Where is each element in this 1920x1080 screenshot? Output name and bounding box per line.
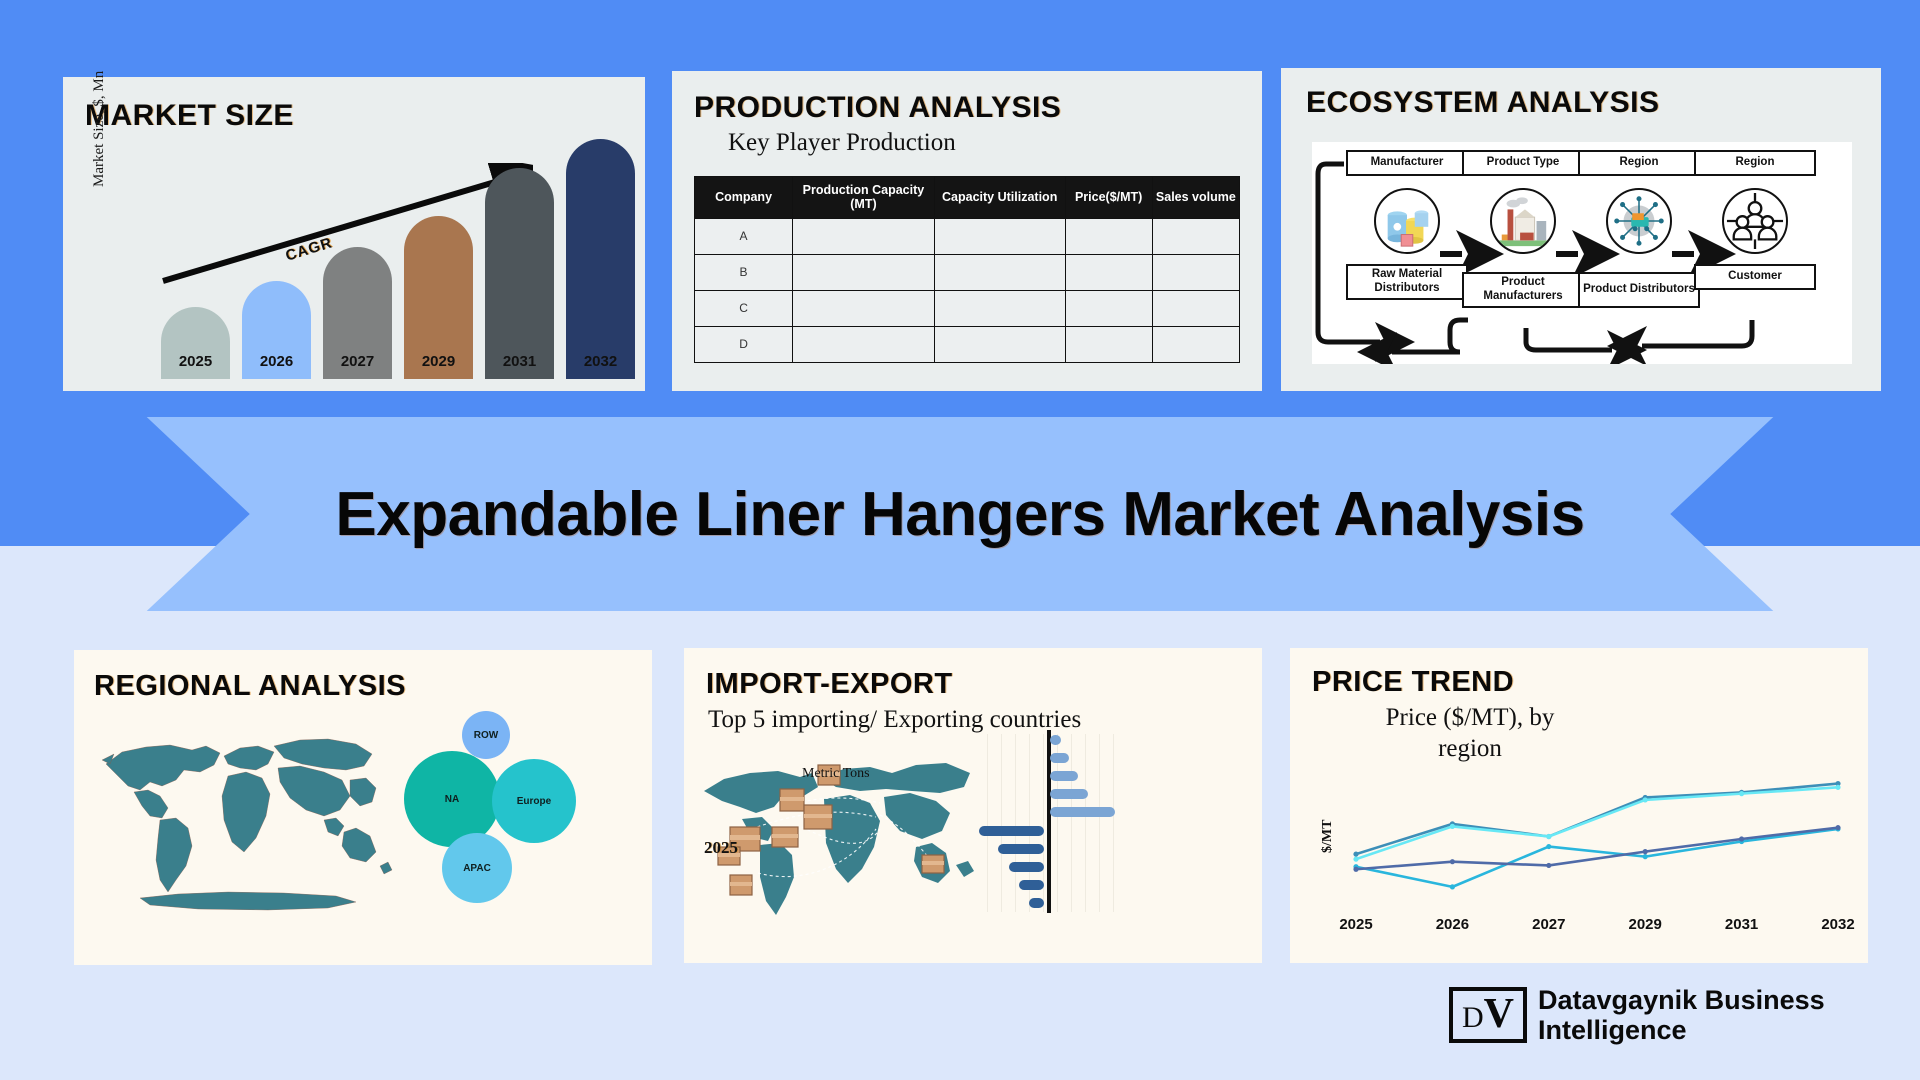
table-row: A [695,218,1240,254]
price-trend-data-point [1835,825,1840,830]
panel-ecosystem-analysis: ECOSYSTEM ANALYSIS ManufacturerProduct T… [1281,68,1881,391]
production-subtitle: Key Player Production [728,129,956,157]
price-trend-data-point [1546,834,1551,839]
table-cell-price [1065,218,1152,254]
factory-icon [1490,188,1556,254]
ecosystem-bottom-label: Product Manufacturers [1462,272,1584,308]
import-bar [1050,771,1078,781]
logo-letter-v: V [1484,993,1514,1035]
table-cell-company: A [695,218,793,254]
market-size-bar-label: 2025 [161,353,230,370]
table-cell-production-capacity [793,254,935,290]
market-size-bar: 2032 [566,139,635,379]
chart-gridline [1001,734,1002,912]
import-bar [1050,807,1115,817]
table-body: ABCD [695,218,1240,362]
export-bar [1019,880,1044,890]
price-trend-data-point [1353,867,1358,872]
table-cell-capacity-utilization [934,326,1065,362]
table-column-header: Price($/MT) [1065,177,1152,219]
table-cell-price [1065,326,1152,362]
ecosystem-bottom-label: Customer [1694,264,1816,290]
market-size-y-axis-label: Market Size, $, Mn [91,71,108,187]
page-title-ecosystem-analysis: ECOSYSTEM ANALYSIS [1306,86,1660,120]
ecosystem-flow-diagram: ManufacturerProduct TypeRegionRegion [1312,142,1852,364]
market-size-bar-group: 202520262027202920312032 [161,139,635,379]
table-row: C [695,290,1240,326]
price-trend-data-point [1643,854,1648,859]
regional-bubble-apac: APAC [442,833,512,903]
export-bar [998,844,1045,854]
market-size-bar: 2027 [323,247,392,379]
price-trend-data-point [1643,849,1648,854]
table-cell-price [1065,254,1152,290]
import-export-diverging-bar-chart [984,730,1184,935]
table-cell-capacity-utilization [934,218,1065,254]
page-title-production-analysis: PRODUCTION ANALYSIS [694,91,1061,125]
regional-bubble-chart: NAEuropeAPACROW [404,705,619,920]
export-bar [1029,898,1044,908]
table-column-header: Capacity Utilization [934,177,1065,219]
page-title-market-size: MARKET SIZE [85,99,294,133]
distribution-network-icon [1606,188,1672,254]
panel-price-trend: PRICE TREND Price ($/MT), by region $/MT… [1290,648,1868,963]
price-trend-data-point [1739,791,1744,796]
logo-mark-dv: D V [1449,987,1527,1043]
table-cell-company: B [695,254,793,290]
market-size-bar-label: 2032 [566,353,635,370]
price-trend-data-point [1835,785,1840,790]
price-trend-y-axis-label: $/MT [1320,820,1336,853]
panel-market-size: MARKET SIZE Market Size, $, Mn CAGR 2025… [63,77,645,391]
table-cell-production-capacity [793,218,935,254]
price-trend-x-label: 2029 [1629,916,1662,933]
ecosystem-bottom-label: Product Distributors [1578,272,1700,308]
market-size-bar-label: 2031 [485,353,554,370]
table-cell-company: D [695,326,793,362]
table-column-header: Company [695,177,793,219]
chart-gridline [1113,734,1114,912]
table-cell-sales-volume [1152,218,1239,254]
import-export-year-label: 2025 [704,838,738,858]
key-player-production-table: CompanyProduction Capacity(MT)Capacity U… [694,176,1240,363]
market-size-bar: 2029 [404,216,473,379]
ecosystem-bottom-label: Raw Material Distributors [1346,264,1468,300]
price-trend-line-chart [1342,768,1852,908]
table-cell-capacity-utilization [934,254,1065,290]
price-trend-data-point [1739,836,1744,841]
panel-production-analysis: PRODUCTION ANALYSIS Key Player Productio… [672,71,1262,391]
price-trend-x-label: 2032 [1821,916,1854,933]
table-column-header: Sales volume [1152,177,1239,219]
chart-gridline [1085,734,1086,912]
ecosystem-top-label: Region [1578,150,1700,176]
table-cell-production-capacity [793,290,935,326]
price-trend-x-label: 2031 [1725,916,1758,933]
chart-gridline [1071,734,1072,912]
export-bar [1009,862,1044,872]
price-trend-subtitle: Price ($/MT), by region [1360,702,1580,765]
logo-letter-d: D [1462,1003,1484,1033]
table-cell-sales-volume [1152,326,1239,362]
market-size-bar: 2025 [161,307,230,379]
table-cell-company: C [695,290,793,326]
customers-icon [1722,188,1788,254]
ecosystem-top-label: Manufacturer [1346,150,1468,176]
import-bar [1050,789,1088,799]
page-title-price-trend: PRICE TREND [1312,666,1514,699]
market-size-bar-label: 2026 [242,353,311,370]
bubble-label: APAC [463,863,491,874]
barrels-icon [1374,188,1440,254]
bubble-label: ROW [474,730,498,741]
regional-bubble-europe: Europe [492,759,576,843]
chart-gridline [1099,734,1100,912]
market-size-bar-label: 2029 [404,353,473,370]
table-cell-sales-volume [1152,290,1239,326]
table-cell-capacity-utilization [934,290,1065,326]
bubble-label: NA [445,794,459,805]
price-trend-x-label: 2026 [1436,916,1469,933]
market-size-bar: 2031 [485,168,554,379]
table-cell-production-capacity [793,326,935,362]
market-size-bar: 2026 [242,281,311,379]
table-cell-price [1065,290,1152,326]
bubble-label: Europe [517,796,551,807]
panel-regional-analysis: REGIONAL ANALYSIS NAEuropeAPACROW [74,650,652,965]
table-header-row: CompanyProduction Capacity(MT)Capacity U… [695,177,1240,219]
price-trend-data-point [1643,797,1648,802]
world-map-icon [88,720,398,920]
price-trend-data-point [1546,844,1551,849]
import-bar [1050,735,1061,745]
import-bar [1050,753,1069,763]
price-trend-x-label: 2027 [1532,916,1565,933]
ecosystem-top-label: Product Type [1462,150,1584,176]
price-trend-data-point [1450,824,1455,829]
table-row: B [695,254,1240,290]
panel-import-export: IMPORT-EXPORT Top 5 importing/ Exporting… [684,648,1262,963]
chart-gridline [1015,734,1016,912]
logo-company-name: Datavgaynik Business Intelligence [1538,985,1878,1045]
price-trend-data-point [1450,859,1455,864]
chart-gridline [987,734,988,912]
price-trend-x-label: 2025 [1339,916,1372,933]
page-title-regional-analysis: REGIONAL ANALYSIS [94,670,406,703]
regional-bubble-na: NA [404,751,500,847]
table-column-header: Production Capacity(MT) [793,177,935,219]
import-export-unit-label: Metric Tons [802,766,870,782]
table-row: D [695,326,1240,362]
ecosystem-top-label: Region [1694,150,1816,176]
table-cell-sales-volume [1152,254,1239,290]
price-trend-data-point [1546,863,1551,868]
price-trend-data-point [1450,884,1455,889]
brand-logo: D V Datavgaynik Business Intelligence [1449,985,1878,1045]
market-size-bar-label: 2027 [323,353,392,370]
page-title-import-export: IMPORT-EXPORT [706,668,953,701]
export-bar [979,826,1044,836]
regional-bubble-row: ROW [462,711,510,759]
price-trend-data-point [1353,857,1358,862]
price-trend-line-series-2 [1356,787,1838,859]
price-trend-data-point [1353,852,1358,857]
page-title-main: Expandable Liner Hangers Market Analysis [0,417,1920,611]
